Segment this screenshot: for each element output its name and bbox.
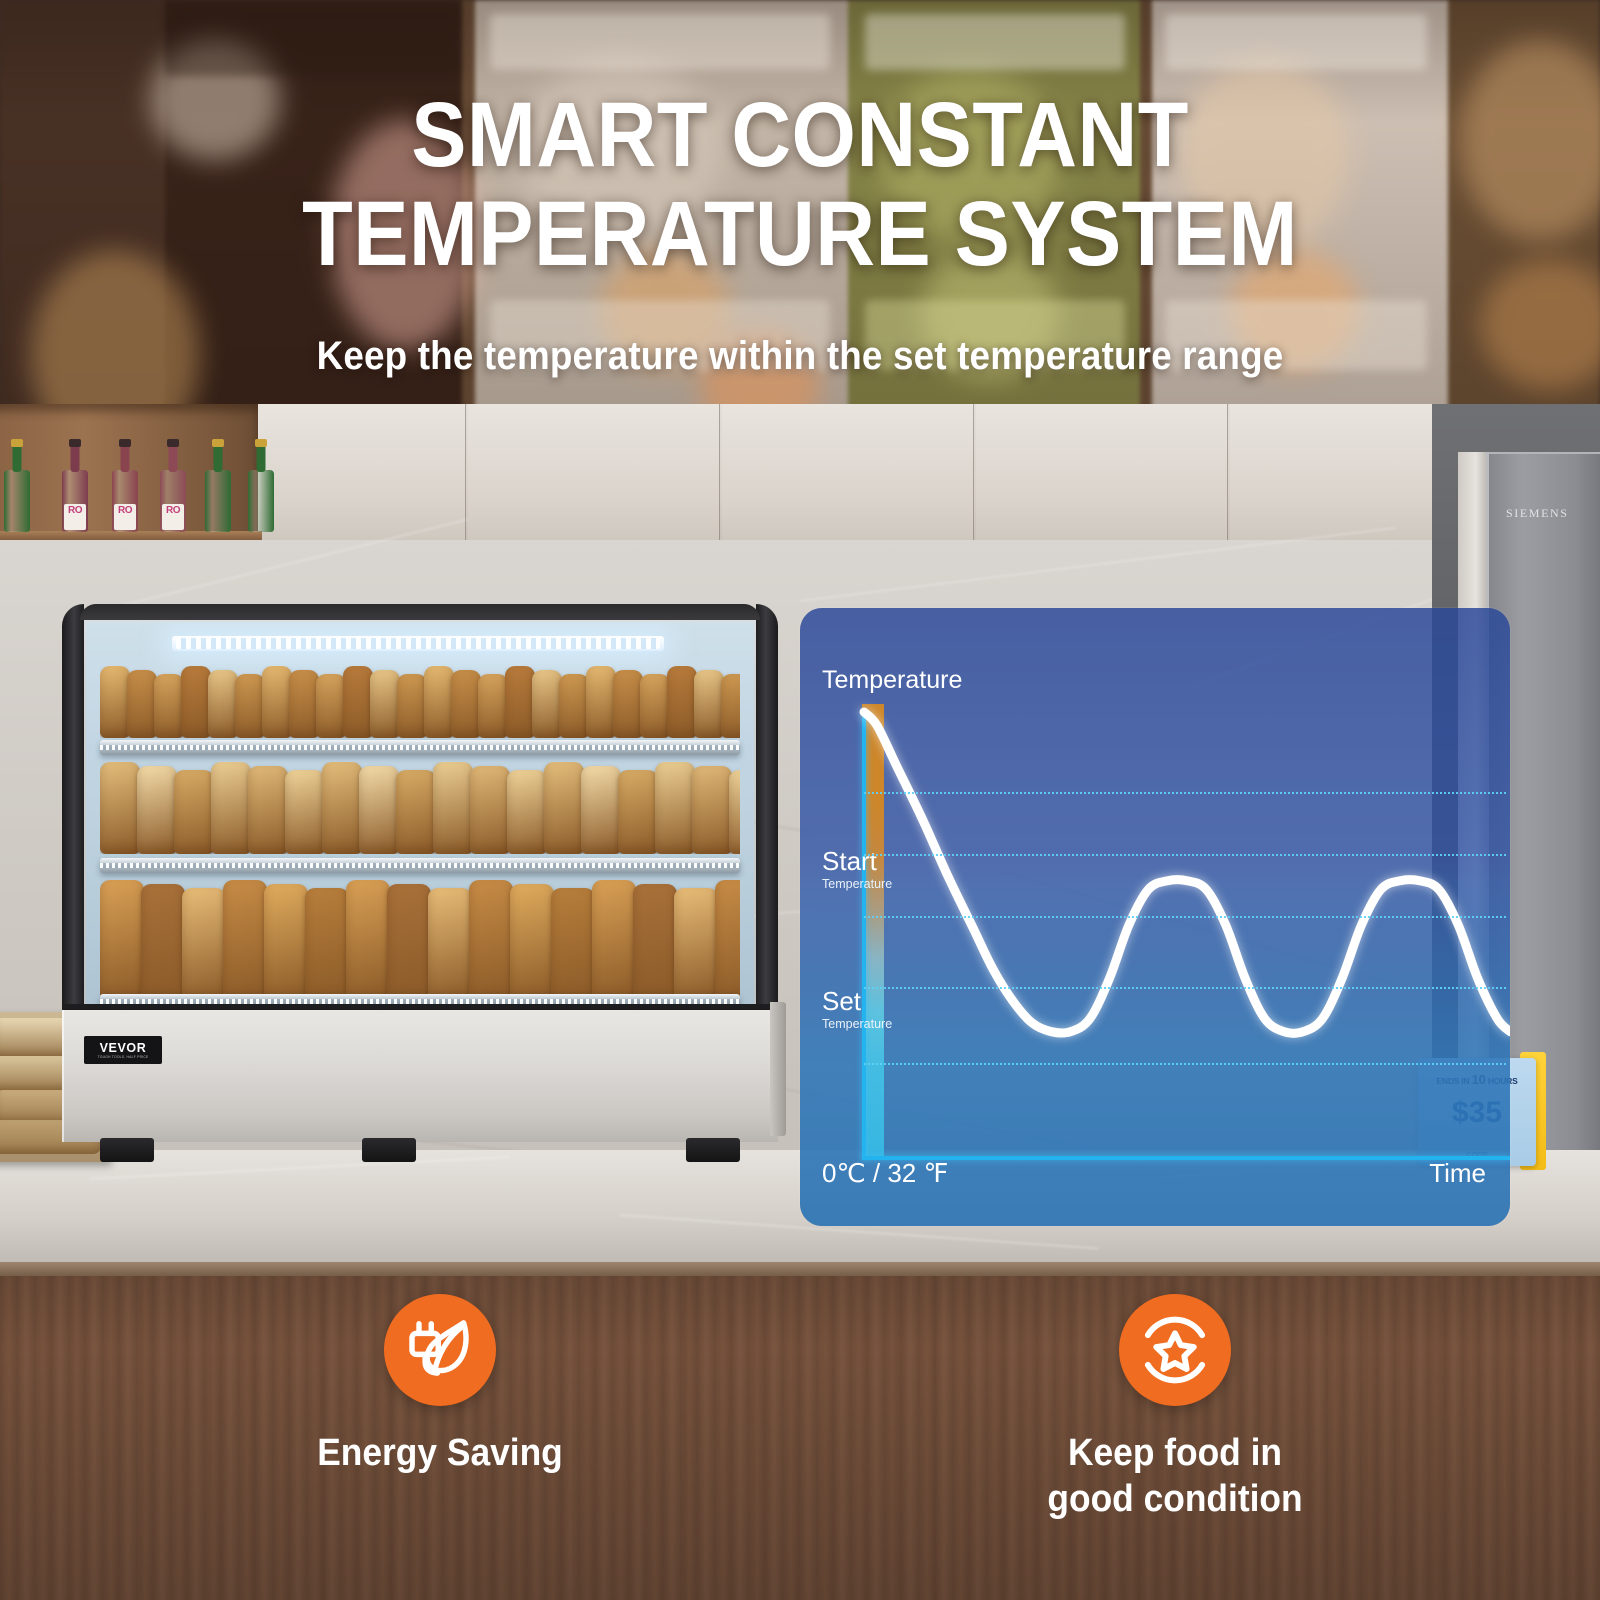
bread-loaf [674,888,718,1000]
bread-loaf [100,762,140,854]
bread-shelf-row [100,762,740,854]
bread-loaf [181,666,211,738]
bread-loaf [397,674,427,738]
bread-loaf [694,670,724,738]
case-foot [362,1138,416,1162]
bread-loaf [211,762,251,854]
cabinet-door [258,404,466,554]
bread-loaf [451,670,481,738]
wood-grain [753,1276,755,1600]
vevor-tagline: TOUGH TOOLS, HALF PRICE [98,1055,149,1059]
bread-loaf [510,884,554,1000]
page-subtitle: Keep the temperature within the set temp… [64,334,1536,379]
chrome-shelf-rack [100,858,740,873]
bread-loaf [532,670,562,738]
chrome-shelf-rack [100,740,740,755]
bread-loaf [618,770,658,854]
chart-gridline [864,916,1506,918]
bread-loaf [141,884,185,1000]
chart-gridline [864,987,1506,989]
bread-loaf [424,666,454,738]
bread-loaf [359,766,399,854]
chart-gridline [864,1063,1506,1065]
bread-loaf [544,762,584,854]
bakery-display-case: VEVOR TOUGH TOOLS, HALF PRICE [62,604,778,1162]
temperature-chart-panel: Temperature Start Temperature Set Temper… [800,608,1510,1226]
case-foot [686,1138,740,1162]
bread-loaf [208,670,238,738]
bread-loaf [470,766,510,854]
bread-loaf [633,884,677,1000]
vevor-brand-badge: VEVOR TOUGH TOOLS, HALF PRICE [84,1036,162,1064]
chart-plot-area: Temperature Start Temperature Set Temper… [800,608,1510,1226]
bread-loaf [343,666,373,738]
wood-grain [934,1276,936,1600]
bread-loaf [715,880,740,1000]
keep-food-line-2: good condition [989,1476,1361,1522]
bread-loaf [729,770,740,854]
energy-saving-icon-circle [384,1294,496,1406]
bread-loaf [428,888,472,1000]
bread-loaf [667,666,697,738]
bread-loaf [346,880,390,1000]
headline-line-2: TEMPERATURE SYSTEM [80,185,1520,284]
bread-loaf [370,670,400,738]
beverage-bottle: RO [160,470,186,532]
bread-loaf [174,770,214,854]
bread-loaf [264,884,308,1000]
bread-shelf-row [100,666,740,738]
beverage-bottle [4,470,30,532]
bread-loaf [613,670,643,738]
bread-loaf [305,888,349,1000]
bread-loaf [592,880,636,1000]
bread-loaf [505,666,535,738]
wood-grain [823,1276,826,1600]
beverage-bottle [248,470,274,532]
cabinet-door [468,404,720,554]
cabinet-door [976,404,1228,554]
plug-leaf-icon [384,1294,496,1406]
case-base-panel: VEVOR TOUGH TOOLS, HALF PRICE [62,1004,778,1142]
keep-food-icon-circle [1119,1294,1231,1406]
beverage-bottle [205,470,231,532]
bread-loaf [396,770,436,854]
bread-loaf [285,770,325,854]
vevor-wordmark: VEVOR [100,1042,147,1054]
wood-grain [1576,1276,1579,1600]
energy-saving-label: Energy Saving [254,1430,626,1476]
star-circle-icon [1119,1294,1231,1406]
bread-loaf [507,770,547,854]
bread-loaf [433,762,473,854]
product-infographic: RORORO SIEMENS ENDS IN 10 HOURS $35 CODE… [0,0,1600,1600]
bread-loaf [478,674,508,738]
chart-gridline [864,792,1506,794]
wood-grain [1436,1276,1440,1600]
case-interior [86,622,754,1008]
bread-loaf [248,766,288,854]
bread-loaf [137,766,177,854]
bread-loaf [223,880,267,1000]
beverage-bottle: RO [62,470,88,532]
bread-loaf [586,666,616,738]
headline-line-1: SMART CONSTANT [80,86,1520,185]
bread-loaf [262,666,292,738]
case-top-bar [80,604,760,620]
led-light-strip [172,636,664,651]
beverage-bottle: RO [112,470,138,532]
cabinet-door [722,404,974,554]
case-frame-left [62,604,84,1010]
bread-loaf [154,674,184,738]
feature-energy-saving: Energy Saving [240,1294,640,1476]
bread-loaf [387,884,431,1000]
bread-loaf [322,762,362,854]
bread-shelf-row [100,880,740,1000]
siemens-logo: SIEMENS [1506,506,1569,521]
wood-grain [210,1276,212,1600]
bread-loaf [551,888,595,1000]
keep-food-line-1: Keep food in [989,1430,1361,1476]
curved-glass-front [62,604,778,1010]
bread-loaf [182,888,226,1000]
keep-food-label: Keep food in good condition [989,1430,1361,1522]
page-title: SMART CONSTANT TEMPERATURE SYSTEM [80,86,1520,284]
wood-grain [1506,1276,1508,1600]
case-foot [100,1138,154,1162]
wood-grain [893,1276,897,1600]
wood-grain [140,1276,144,1600]
wood-grain [0,1276,2,1600]
case-frame-right [756,604,778,1010]
bread-loaf [235,674,265,738]
bread-loaf [289,670,319,738]
bread-loaf [640,674,670,738]
cabinet-door [1230,404,1440,554]
bread-loaf [316,674,346,738]
bread-loaf [100,666,130,738]
feature-keep-food: Keep food in good condition [975,1294,1375,1522]
wood-grain [683,1276,687,1600]
bread-loaf [655,762,695,854]
case-right-side [770,1002,786,1136]
bread-loaf [469,880,513,1000]
wood-grain [642,1276,645,1600]
wood-grain [70,1276,73,1600]
bread-loaf [100,880,144,1000]
bread-loaf [559,674,589,738]
bread-loaf [721,674,740,738]
bread-loaf [692,766,732,854]
chart-gridline [864,854,1506,856]
bread-loaf [127,670,157,738]
bread-loaf [581,766,621,854]
